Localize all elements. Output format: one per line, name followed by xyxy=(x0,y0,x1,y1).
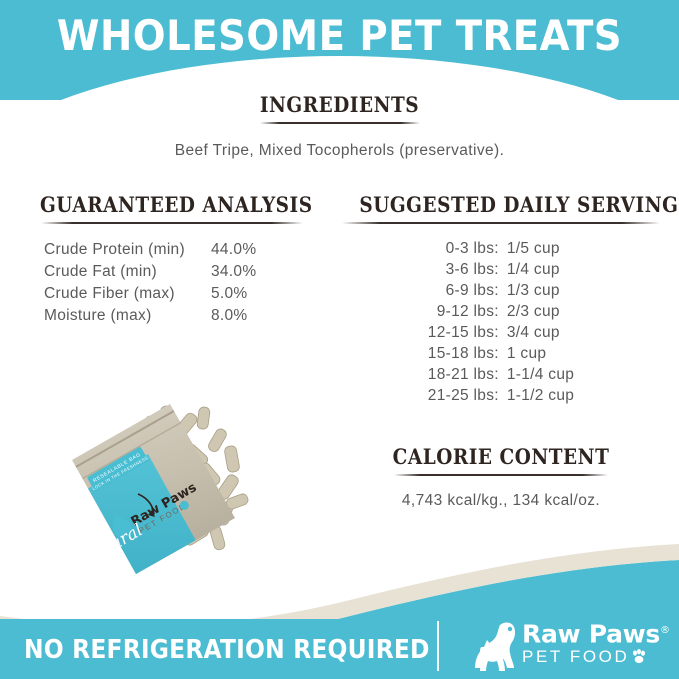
serving-weight: 21-25 lbs: xyxy=(428,385,507,406)
nutrient-value: 44.0% xyxy=(211,239,256,261)
product-illustration: RESEALABLE BAG LOCK IN THE FRESHNESS Raw… xyxy=(30,398,330,588)
logo-subtitle: PET FOOD xyxy=(522,647,670,667)
serving-amount: 1-1/2 cup xyxy=(507,385,574,406)
guaranteed-analysis-heading: GUARANTEED ANALYSIS xyxy=(40,192,304,217)
serving-amount: 1/4 cup xyxy=(507,259,574,280)
ingredients-section: INGREDIENTS Beef Tripe, Mixed Tocopherol… xyxy=(0,92,679,160)
calorie-content-text: 4,743 kcal/kg., 134 kcal/oz. xyxy=(340,492,662,510)
ingredients-heading: INGREDIENTS xyxy=(41,92,639,117)
suggested-daily-serving-heading: SUGGESTED DAILY SERVING xyxy=(359,192,642,217)
serving-weight: 0-3 lbs: xyxy=(428,238,507,259)
table-row: 0-3 lbs: 1/5 cup xyxy=(428,238,574,259)
table-row: 6-9 lbs: 1/3 cup xyxy=(428,280,574,301)
serving-amount: 1-1/4 cup xyxy=(507,364,574,385)
calorie-content-rule xyxy=(394,474,608,476)
ingredients-rule xyxy=(260,122,420,124)
serving-weight: 6-9 lbs: xyxy=(428,280,507,301)
calorie-content-section: CALORIE CONTENT 4,743 kcal/kg., 134 kcal… xyxy=(340,444,662,510)
logo-wordmark: Raw Paws® PET FOOD xyxy=(522,618,670,667)
guaranteed-analysis-section: GUARANTEED ANALYSIS Crude Protein (min) … xyxy=(22,192,322,327)
nutrient-name: Moisture (max) xyxy=(44,305,211,327)
no-refrigeration-claim: NO REFRIGERATION REQUIRED xyxy=(24,635,430,665)
serving-amount: 1/5 cup xyxy=(507,238,574,259)
table-row: 21-25 lbs: 1-1/2 cup xyxy=(428,385,574,406)
dog-cat-logo-icon xyxy=(470,617,522,671)
page-title-text: WHOLESOME PET TREATS xyxy=(57,12,622,60)
serving-amount: 3/4 cup xyxy=(507,322,574,343)
footer-divider xyxy=(437,621,439,671)
page-title: WHOLESOME PET TREATS xyxy=(27,12,652,60)
serving-table: 0-3 lbs: 1/5 cup 3-6 lbs: 1/4 cup 6-9 lb… xyxy=(428,238,574,406)
table-row: Crude Fat (min) 34.0% xyxy=(44,261,256,283)
serving-amount: 1/3 cup xyxy=(507,280,574,301)
suggested-daily-serving-rule xyxy=(342,222,660,224)
table-row: 18-21 lbs: 1-1/4 cup xyxy=(428,364,574,385)
serving-weight: 3-6 lbs: xyxy=(428,259,507,280)
table-row: 9-12 lbs: 2/3 cup xyxy=(428,301,574,322)
serving-amount: 2/3 cup xyxy=(507,301,574,322)
suggested-daily-serving-section: SUGGESTED DAILY SERVING 0-3 lbs: 1/5 cup… xyxy=(340,192,662,406)
product-bag: RESEALABLE BAG LOCK IN THE FRESHNESS Raw… xyxy=(40,404,235,588)
serving-amount: 1 cup xyxy=(507,343,574,364)
table-row: 12-15 lbs: 3/4 cup xyxy=(428,322,574,343)
nutrient-value: 8.0% xyxy=(211,305,256,327)
calorie-content-heading: CALORIE CONTENT xyxy=(359,444,642,469)
logo-name-text: Raw Paws xyxy=(522,619,660,648)
pet-treat-label: WHOLESOME PET TREATS INGREDIENTS Beef Tr… xyxy=(0,0,679,679)
guaranteed-analysis-rule xyxy=(41,222,303,224)
table-row: 15-18 lbs: 1 cup xyxy=(428,343,574,364)
registered-mark: ® xyxy=(660,625,670,636)
product-photo: RESEALABLE BAG LOCK IN THE FRESHNESS Raw… xyxy=(30,398,330,588)
serving-weight: 18-21 lbs: xyxy=(428,364,507,385)
bag-product-line: PET xyxy=(85,555,124,588)
table-row: 3-6 lbs: 1/4 cup xyxy=(428,259,574,280)
logo-subtitle-text: PET FOOD xyxy=(522,647,629,666)
nutrient-name: Crude Fat (min) xyxy=(44,261,211,283)
nutrient-value: 5.0% xyxy=(211,283,256,305)
nutrient-name: Crude Protein (min) xyxy=(44,239,211,261)
brand-logo[interactable]: Raw Paws® PET FOOD xyxy=(470,615,670,673)
nutrient-name: Crude Fiber (max) xyxy=(44,283,211,305)
table-row: Crude Fiber (max) 5.0% xyxy=(44,283,256,305)
table-row: Moisture (max) 8.0% xyxy=(44,305,256,327)
serving-weight: 12-15 lbs: xyxy=(428,322,507,343)
logo-name: Raw Paws® xyxy=(522,618,670,647)
guaranteed-analysis-table: Crude Protein (min) 44.0% Crude Fat (min… xyxy=(44,239,256,327)
serving-weight: 15-18 lbs: xyxy=(428,343,507,364)
ingredients-text: Beef Tripe, Mixed Tocopherols (preservat… xyxy=(0,142,679,160)
nutrient-value: 34.0% xyxy=(211,261,256,283)
serving-weight: 9-12 lbs: xyxy=(428,301,507,322)
paw-print-icon xyxy=(631,649,647,664)
table-row: Crude Protein (min) 44.0% xyxy=(44,239,256,261)
